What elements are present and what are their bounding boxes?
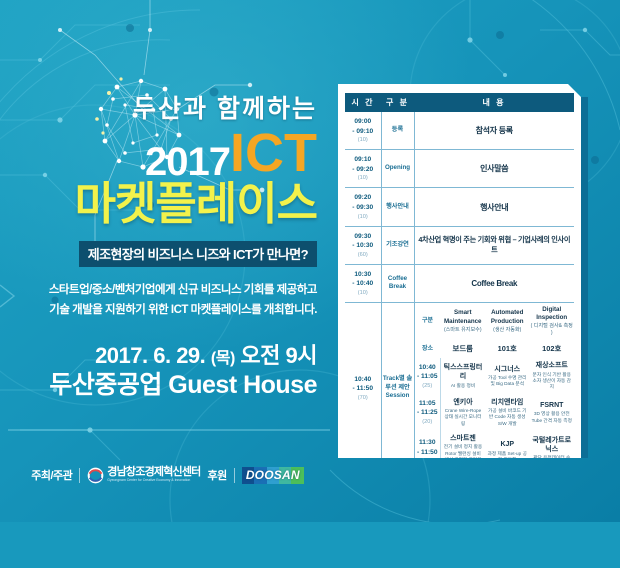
event-time: 오전 9시	[240, 343, 317, 368]
track-table: 구분 Smart Maintenance (스마트 유지보수) Automate…	[415, 303, 575, 473]
company-desc: AI 활용 정비	[443, 383, 483, 389]
consult-label-place: 장소	[415, 549, 441, 567]
track-name-en: Smart Maintenance	[444, 309, 481, 324]
row-kind: 등록	[381, 112, 414, 150]
company-name: 시그너스	[487, 365, 528, 374]
row-content: 인사말씀	[414, 150, 574, 188]
duration: (25)	[415, 382, 441, 390]
event-venue: 두산중공업 Guest House	[0, 370, 317, 400]
duration: (20)	[415, 418, 441, 426]
company-name: 국털레가트로닉스	[532, 436, 573, 454]
track-label-place: 장소	[415, 340, 441, 358]
row-time: 09:20 - 09:30 (10)	[345, 188, 381, 226]
headline-ict: ICT	[230, 123, 317, 183]
track-name-ko: (생산 자동화)	[486, 536, 529, 543]
company-name: 스마트젠	[443, 434, 483, 443]
table-row: 09:20 - 09:30 (10) 행사안내 행사안내	[345, 188, 574, 226]
headline-marketplace: 마켓플레이스	[0, 180, 317, 227]
time-end: - 10:40	[352, 280, 373, 287]
sponsor-bar: 주최/주관 경남창조경제혁신센터 Gyeongnam Center for Cr…	[0, 462, 335, 488]
time-end: - 09:30	[352, 204, 373, 211]
time-end: - 09:10	[352, 128, 373, 135]
track-name-ko: ( 디지털 검사& 측정 )	[531, 323, 574, 337]
track-label-gubun: 구분	[415, 303, 441, 340]
duration: (10)	[345, 289, 381, 297]
row-content: 참석자 등록	[414, 112, 574, 150]
table-row: 09:30 - 10:30 (60) 기조강연 4차산업 혁명이 주는 기회와 …	[345, 226, 574, 264]
event-weekday: (목)	[211, 350, 235, 367]
doosan-logo: DOOSAN	[242, 467, 304, 484]
tagline: 제조현장의 비즈니스 니즈와 ICT가 만나면?	[79, 241, 317, 267]
promo-panel: 두산과 함께하는 2017ICT 마켓플레이스 제조현장의 비즈니스 니즈와 I…	[0, 0, 335, 522]
time-start: 09:20	[354, 194, 371, 201]
host-label: 주최/주관	[31, 467, 72, 483]
track-header-cell: Digital Inspection ( 디지털 검사& 측정 )	[530, 303, 575, 340]
duration: (120)	[345, 545, 381, 553]
headline-top: 두산과 함께하는	[0, 96, 317, 124]
duration: (10)	[345, 213, 381, 221]
description-line-1: 스타트업/중소/벤처기업에게 신규 비즈니스 기회를 제공하고	[0, 280, 317, 300]
time-end: - 11:25	[417, 409, 438, 416]
track-name-en: Automated Production	[491, 309, 524, 324]
time-start: 11:30	[419, 439, 436, 446]
time-end: - 15:00	[352, 537, 373, 544]
consult-room: 101호	[485, 549, 530, 567]
host-name-en: Gyeongnam Center for Creative Economy & …	[107, 479, 200, 482]
headline-year-row: 2017ICT	[0, 126, 317, 182]
divider	[79, 468, 80, 483]
gncci-logo: 경남창조경제혁신센터 Gyeongnam Center for Creative…	[87, 467, 200, 484]
duration: (10)	[345, 174, 381, 182]
track-room: 102호	[530, 340, 575, 358]
track-time: 10:40 - 11:50 (70)	[345, 303, 381, 474]
time-end: - 11:05	[417, 373, 438, 380]
consulting-room-row: 장소 보드룸 101호 102호	[415, 549, 575, 567]
company-desc: 가공 설비 바코드 기반 Code 자동 생성 S/W 개발	[487, 408, 528, 427]
company-desc: Crane Wire-Rope 상태 실시간 모니터링	[443, 408, 483, 427]
row-content: 행사안내	[414, 188, 574, 226]
row-time: 09:10 - 09:20 (10)	[345, 150, 381, 188]
row-content: Coffee Break	[414, 264, 574, 302]
time-end: - 11:50	[417, 449, 438, 456]
track-session-subrow: 10:40 - 11:05 (25) 틱스스프링터리 AI 활용 정비 시그너스…	[415, 358, 575, 394]
track-kind: Track별 솔루션 제안 Session	[381, 303, 414, 474]
time-end: - 11:50	[352, 385, 373, 392]
company-name: 리치앤타임	[487, 398, 528, 407]
track-detail-cell: 구분 Smart Maintenance (스마트 유지보수) Automate…	[414, 303, 574, 474]
table-row: 09:10 - 09:20 (10) Opening 인사말씀	[345, 150, 574, 188]
description: 스타트업/중소/벤처기업에게 신규 비즈니스 기회를 제공하고 기술 개발을 지…	[0, 280, 317, 320]
time-end: - 09:20	[352, 166, 373, 173]
row-time: 09:30 - 10:30 (60)	[345, 226, 381, 264]
time-start: 09:00	[354, 118, 371, 125]
time-start: 10:40	[419, 364, 436, 371]
track-name-ko: (스마트 유지보수)	[442, 327, 485, 334]
track-name-ko: (스마트 유지보수)	[442, 536, 485, 543]
header-content: 내 용	[414, 93, 574, 112]
session-time: 11:05 - 11:25 (20)	[415, 394, 441, 430]
company-name: 틱스스프링터리	[443, 363, 483, 381]
session-company: 틱스스프링터리 AI 활용 정비	[441, 358, 486, 394]
track-name-ko: (생산 자동화)	[486, 327, 529, 334]
session-company: 리치앤타임 가공 설비 바코드 기반 Code 자동 생성 S/W 개발	[485, 394, 530, 430]
company-name: KJP	[487, 440, 528, 449]
time-start: 10:30	[354, 271, 371, 278]
row-kind: Opening	[381, 150, 414, 188]
gncci-mark-icon	[87, 467, 104, 484]
support-label: 후원	[208, 467, 227, 483]
time-start: 09:30	[354, 233, 371, 240]
track-header-cell: Automated Production (생산 자동화)	[485, 303, 530, 340]
event-datetime: 2017. 6. 29. (목) 오전 9시	[0, 342, 317, 370]
duration: (10)	[345, 136, 381, 144]
row-content: 4차산업 혁명이 주는 기회와 위협 – 기업사례의 인사이트	[414, 226, 574, 264]
row-time: 09:00 - 09:10 (10)	[345, 112, 381, 150]
company-name: FSRNT	[532, 401, 573, 410]
track-room-row: 장소 보드룸 101호 102호	[415, 340, 575, 358]
host-name: 경남창조경제혁신센터	[107, 467, 200, 478]
time-start: 13:00	[354, 527, 371, 534]
time-end: - 10:30	[352, 242, 373, 249]
company-desc: 문자 인식 기반 활용 소자 생산이 자동 감지	[532, 372, 573, 391]
consult-room: 102호	[530, 549, 575, 567]
track-session-subrow: 11:05 - 11:25 (20) 엔키아 Crane Wire-Rope 상…	[415, 394, 575, 430]
description-line-2: 기술 개발을 지원하기 위한 ICT 마켓플레이스를 개최합니다.	[0, 300, 317, 320]
row-kind: 행사안내	[381, 188, 414, 226]
track-name-en: Digital Inspection	[536, 306, 567, 321]
session-company: 재상소프트 문자 인식 기반 활용 소자 생산이 자동 감지	[530, 358, 575, 394]
session-time: 10:40 - 11:05 (25)	[415, 358, 441, 394]
session-company: 엔키아 Crane Wire-Rope 상태 실시간 모니터링	[441, 394, 486, 430]
consult-room: 보드룸	[441, 549, 486, 567]
time-start: 11:05	[419, 400, 436, 407]
divider	[234, 468, 235, 483]
track-header-row: 구분 Smart Maintenance (스마트 유지보수) Automate…	[415, 303, 575, 340]
time-start: 10:40	[354, 376, 371, 383]
headline-year: 2017	[145, 140, 230, 184]
duration: (70)	[345, 394, 381, 402]
track-header-cell: Smart Maintenance (스마트 유지보수)	[441, 303, 486, 340]
company-desc: 가공 Tool 수명 관리 및 Big Data 분석	[487, 375, 528, 388]
session-company: FSRNT 3D 영상 활용 안전 Tube 간격 자동 측정	[530, 394, 575, 430]
event-date: 2017. 6. 29.	[95, 343, 205, 368]
header-kind: 구 분	[381, 93, 414, 112]
track-room: 보드룸	[441, 340, 486, 358]
doosan-wordmark: DOOSAN	[242, 468, 304, 482]
row-time: 10:30 - 10:40 (10)	[345, 264, 381, 302]
duration: (60)	[345, 251, 381, 259]
track-session-row: 10:40 - 11:50 (70) Track별 솔루션 제안 Session…	[345, 303, 574, 474]
track-room: 101호	[485, 340, 530, 358]
company-desc: 3D 영상 활용 안전 Tube 간격 자동 측정	[532, 411, 573, 424]
row-kind: 기조강연	[381, 226, 414, 264]
time-start: 09:10	[354, 156, 371, 163]
company-name: 재상소프트	[532, 361, 573, 370]
row-kind: Coffee Break	[381, 264, 414, 302]
table-header-row: 시 간 구 분 내 용	[345, 93, 574, 112]
table-row: 10:30 - 10:40 (10) Coffee Break Coffee B…	[345, 264, 574, 302]
track-name-ko: ( 디지털 검사& 측정 )	[531, 533, 574, 547]
gncci-text: 경남창조경제혁신센터 Gyeongnam Center for Creative…	[107, 467, 200, 482]
schedule-card: 시 간 구 분 내 용 09:00 - 09:10 (10) 등록 참석자 등록…	[338, 84, 581, 458]
company-name: 엔키아	[443, 398, 483, 407]
table-row: 09:00 - 09:10 (10) 등록 참석자 등록	[345, 112, 574, 150]
header-time: 시 간	[345, 93, 381, 112]
session-company: 시그너스 가공 Tool 수명 관리 및 Big Data 분석	[485, 358, 530, 394]
